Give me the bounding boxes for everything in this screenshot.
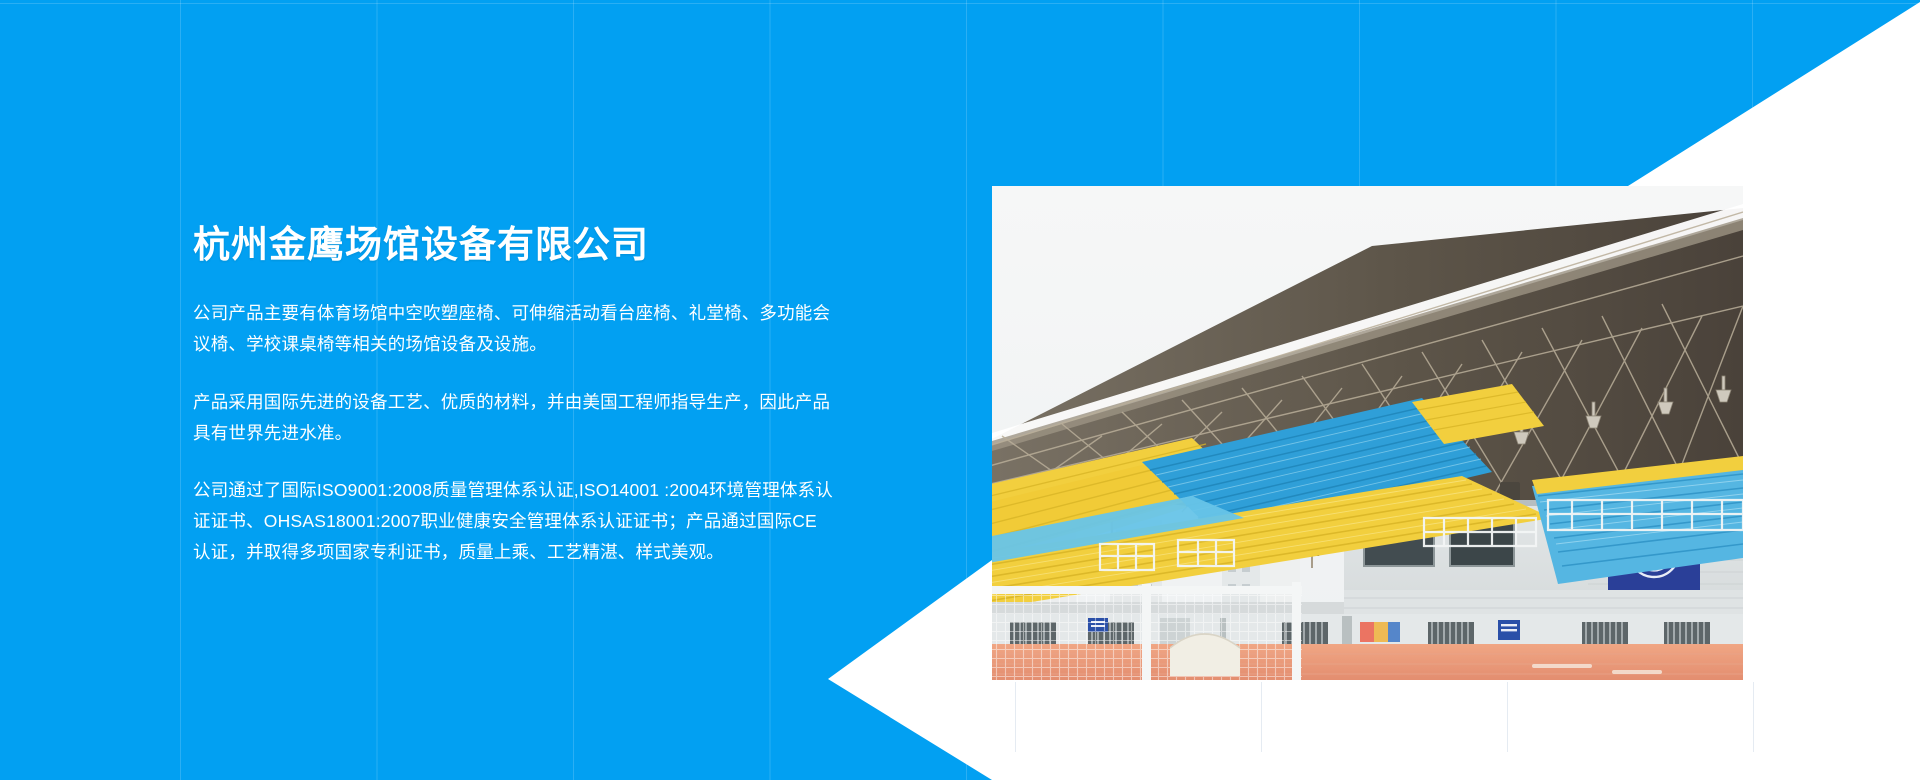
- hero-paragraph-2: 产品采用国际先进的设备工艺、优质的材料，并由美国工程师指导生产，因此产品具有世界…: [193, 387, 833, 449]
- background-grid-top-line: [0, 3, 1920, 4]
- hero-paragraph-1: 公司产品主要有体育场馆中空吹塑座椅、可伸缩活动看台座椅、礼堂椅、多功能会议椅、学…: [193, 298, 833, 360]
- hero-paragraph-3: 公司通过了国际ISO9001:2008质量管理体系认证,ISO14001 :20…: [193, 475, 833, 568]
- footer-grid-lines: [960, 682, 1920, 752]
- stadium-photo: [992, 186, 1743, 680]
- hero-copy: 杭州金鹰场馆设备有限公司 公司产品主要有体育场馆中空吹塑座椅、可伸缩活动看台座椅…: [193, 222, 833, 568]
- hero-banner: 杭州金鹰场馆设备有限公司 公司产品主要有体育场馆中空吹塑座椅、可伸缩活动看台座椅…: [0, 0, 1920, 780]
- page-title: 杭州金鹰场馆设备有限公司: [193, 222, 833, 268]
- stadium-photo-illustration: [992, 186, 1743, 680]
